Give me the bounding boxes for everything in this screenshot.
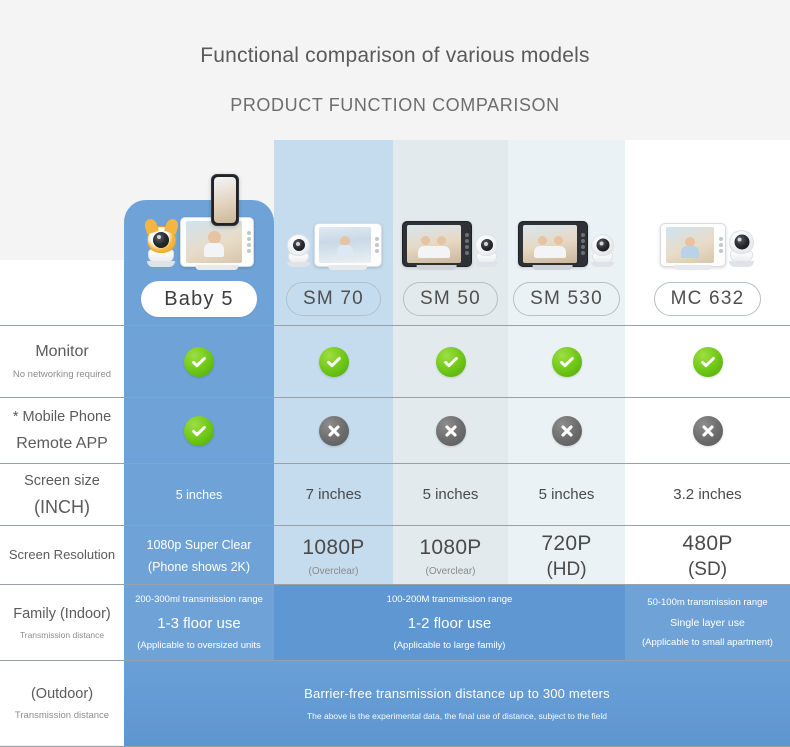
monitor-screen xyxy=(660,223,726,267)
cell-value: 5 inches xyxy=(176,487,223,503)
cell-floors: Single layer use xyxy=(670,617,745,629)
cell-screen-size-sm70: 7 inches xyxy=(274,464,393,526)
cell-screen-size-mc632: 3.2 inches xyxy=(625,464,790,526)
model-pill-sm70[interactable]: SM 70 xyxy=(286,282,381,316)
cell-resolution-sm530: 720P (HD) xyxy=(508,526,625,585)
monitor-screen xyxy=(402,221,472,267)
cell-mobile-app-sm50 xyxy=(393,398,508,464)
page-header: Functional comparison of various models … xyxy=(0,0,790,116)
model-cell-sm70: SM 70 xyxy=(274,273,393,325)
camera-icon xyxy=(728,230,756,267)
cell-monitor-sm70 xyxy=(274,326,393,398)
check-icon xyxy=(319,347,349,377)
row-label-text: Screen Resolution xyxy=(9,547,115,563)
check-icon xyxy=(693,347,723,377)
row-sublabel-text: Remote APP xyxy=(16,434,108,454)
cell-subvalue: (SD) xyxy=(688,559,727,581)
cell-value: 3.2 inches xyxy=(673,485,741,505)
row-screen-size: Screen size (INCH) 5 inches 7 inches 5 i… xyxy=(0,463,790,526)
cell-resolution-sm70: 1080P (Overclear) xyxy=(274,526,393,585)
row-sublabel-text: Transmission distance xyxy=(15,710,109,722)
product-image-sm530 xyxy=(508,140,625,273)
cell-subvalue: (Overclear) xyxy=(308,566,358,577)
phone-icon xyxy=(211,174,239,226)
cross-icon xyxy=(552,416,582,446)
row-label-text: Monitor xyxy=(35,342,88,362)
cell-note: (Applicable to oversized units xyxy=(137,640,261,652)
cell-mobile-app-mc632 xyxy=(625,398,790,464)
model-pill-mc632[interactable]: MC 632 xyxy=(654,282,762,316)
row-label-text: Screen size xyxy=(24,472,100,490)
model-cell-baby5: Baby 5 xyxy=(124,273,274,325)
model-name-row: Baby 5 SM 70 SM 50 SM 530 MC 632 xyxy=(0,273,790,325)
cell-range: 50-100m transmission range xyxy=(647,597,767,609)
monitor-screen xyxy=(314,223,382,267)
comparison-table: Baby 5 SM 70 SM 50 SM 530 MC 632 Monitor… xyxy=(0,140,790,745)
product-image-baby5 xyxy=(124,140,274,273)
monitor-screen xyxy=(518,221,588,267)
row-outdoor: (Outdoor) Transmission distance Barrier-… xyxy=(0,660,790,747)
cell-monitor-baby5 xyxy=(124,326,274,398)
row-screen-resolution: Screen Resolution 1080p Super Clear (Pho… xyxy=(0,525,790,585)
model-cell-mc632: MC 632 xyxy=(625,273,790,325)
row-label-text: (Outdoor) xyxy=(31,685,93,703)
cell-range: 100-200M transmission range xyxy=(387,594,513,606)
cell-range: 200-300ml transmission range xyxy=(135,594,263,606)
cell-note: (Applicable to large family) xyxy=(394,640,506,652)
cell-value: 1080p Super Clear xyxy=(147,537,252,553)
cell-subvalue: (HD) xyxy=(546,559,586,581)
cell-mobile-app-sm530 xyxy=(508,398,625,464)
cell-subvalue: (Overclear) xyxy=(425,566,475,577)
cell-value: 7 inches xyxy=(306,485,362,505)
product-image-sm50 xyxy=(393,140,508,273)
camera-icon xyxy=(144,226,178,267)
cell-value: 5 inches xyxy=(539,485,595,505)
outdoor-note-text: The above is the experimental data, the … xyxy=(307,711,607,721)
row-family-indoor: Family (Indoor) Transmission distance 20… xyxy=(0,584,790,661)
row-label-screen-resolution: Screen Resolution xyxy=(0,526,124,585)
cell-note: (Applicable to small apartment) xyxy=(642,637,773,649)
cell-value: 720P xyxy=(541,530,591,557)
row-sublabel-text: No networking required xyxy=(13,369,111,381)
product-image-sm70 xyxy=(274,140,393,273)
camera-icon xyxy=(590,234,616,267)
model-pill-sm530[interactable]: SM 530 xyxy=(513,282,620,316)
cell-subvalue: (Phone shows 2K) xyxy=(148,560,250,574)
cell-resolution-baby5: 1080p Super Clear (Phone shows 2K) xyxy=(124,526,274,585)
model-cell-sm530: SM 530 xyxy=(508,273,625,325)
row-label-text: Family (Indoor) xyxy=(13,605,111,623)
cell-mobile-app-baby5 xyxy=(124,398,274,464)
cell-resolution-mc632: 480P (SD) xyxy=(625,526,790,585)
row-sublabel-text: (INCH) xyxy=(34,496,90,519)
cell-floors: 1-3 floor use xyxy=(157,615,240,632)
cell-floors: 1-2 floor use xyxy=(408,615,491,632)
cell-monitor-sm530 xyxy=(508,326,625,398)
row-label-monitor: Monitor No networking required xyxy=(0,326,124,398)
cell-indoor-mc632: 50-100m transmission range Single layer … xyxy=(625,585,790,661)
row-label-screen-size: Screen size (INCH) xyxy=(0,464,124,526)
cross-icon xyxy=(319,416,349,446)
page-subtitle: PRODUCT FUNCTION COMPARISON xyxy=(0,95,790,116)
cell-mobile-app-sm70 xyxy=(274,398,393,464)
page-title: Functional comparison of various models xyxy=(0,44,790,68)
cross-icon xyxy=(436,416,466,446)
cell-value: 1080P xyxy=(302,534,364,561)
check-icon xyxy=(184,416,214,446)
camera-icon xyxy=(474,234,500,267)
product-image-row xyxy=(0,140,790,273)
cell-screen-size-baby5: 5 inches xyxy=(124,464,274,526)
cell-resolution-sm50: 1080P (Overclear) xyxy=(393,526,508,585)
cross-icon xyxy=(693,416,723,446)
cell-monitor-sm50 xyxy=(393,326,508,398)
row-sublabel-text: Transmission distance xyxy=(20,630,104,641)
row-mobile-app: * Mobile Phone Remote APP xyxy=(0,397,790,464)
cell-indoor-merged-sm: 100-200M transmission range 1-2 floor us… xyxy=(274,585,625,661)
row-label-outdoor: (Outdoor) Transmission distance xyxy=(0,661,124,746)
check-icon xyxy=(184,347,214,377)
cell-value: 1080P xyxy=(419,534,481,561)
cell-value: 5 inches xyxy=(423,485,479,505)
row-label-family-indoor: Family (Indoor) Transmission distance xyxy=(0,585,124,661)
cell-indoor-baby5: 200-300ml transmission range 1-3 floor u… xyxy=(124,585,274,661)
row-label-text: * Mobile Phone xyxy=(13,408,111,426)
cell-value: 480P xyxy=(682,530,732,557)
model-pill-sm50[interactable]: SM 50 xyxy=(403,282,498,316)
cell-outdoor-merged: Barrier-free transmission distance up to… xyxy=(124,661,790,746)
camera-icon xyxy=(286,234,312,267)
row-monitor: Monitor No networking required xyxy=(0,325,790,398)
cell-screen-size-sm530: 5 inches xyxy=(508,464,625,526)
check-icon xyxy=(552,347,582,377)
check-icon xyxy=(436,347,466,377)
cell-screen-size-sm50: 5 inches xyxy=(393,464,508,526)
outdoor-distance-text: Barrier-free transmission distance up to… xyxy=(304,686,610,701)
monitor-screen xyxy=(180,217,254,267)
product-image-mc632 xyxy=(625,140,790,273)
model-cell-sm50: SM 50 xyxy=(393,273,508,325)
model-pill-baby5[interactable]: Baby 5 xyxy=(141,281,256,317)
row-label-mobile-app: * Mobile Phone Remote APP xyxy=(0,398,124,464)
cell-monitor-mc632 xyxy=(625,326,790,398)
